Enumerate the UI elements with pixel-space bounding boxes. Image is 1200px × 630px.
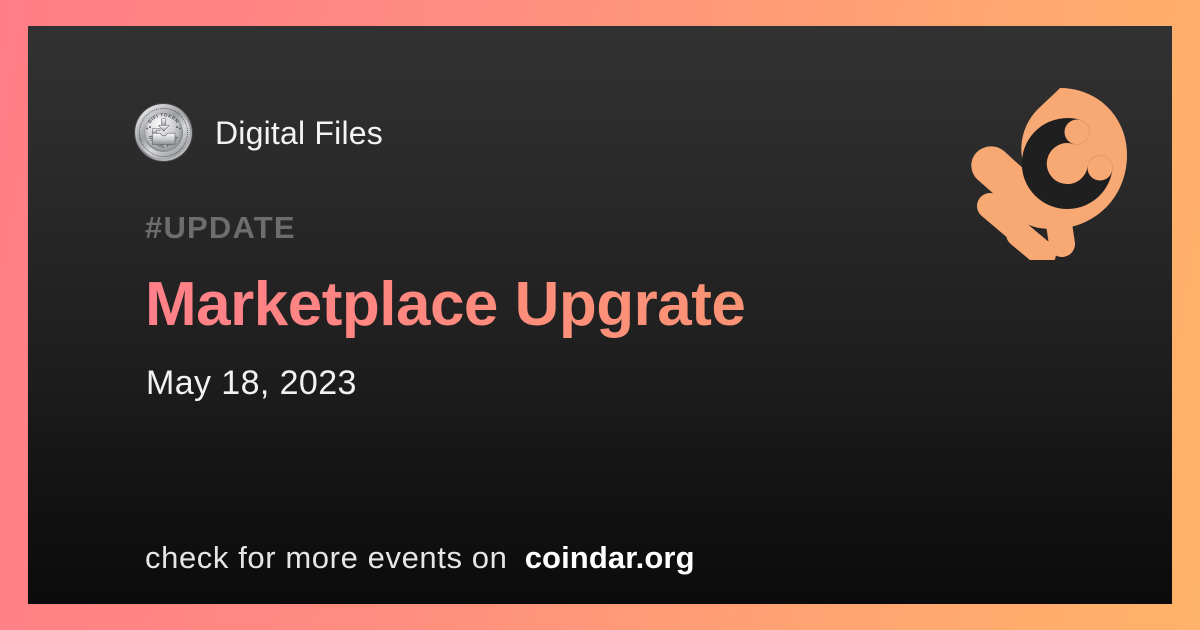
event-date: May 18, 2023 (146, 366, 357, 400)
digital-files-seal-icon: DIFI TOKEN DIGITAL FILES (135, 104, 192, 161)
event-tag: #UPDATE (145, 212, 296, 243)
event-title: Marketplace Upgrate (145, 272, 745, 338)
coindar-comet-icon (964, 84, 1128, 260)
footer-site-link[interactable]: coindar.org (525, 540, 695, 575)
brand-row: DIFI TOKEN DIGITAL FILES (135, 104, 383, 161)
event-banner-card: DIFI TOKEN DIGITAL FILES (0, 0, 1200, 630)
banner-inner-panel: DIFI TOKEN DIGITAL FILES (28, 26, 1172, 604)
footer-callout: check for more events on coindar.org (145, 542, 695, 573)
footer-lead-text: check for more events on (145, 540, 507, 575)
brand-name: Digital Files (215, 117, 383, 149)
